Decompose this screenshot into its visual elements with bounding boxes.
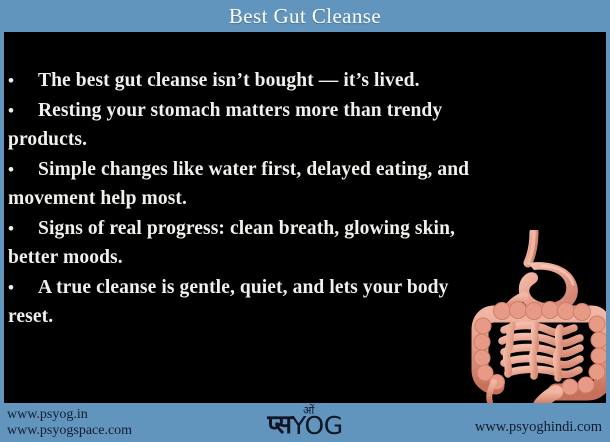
list-item-text: Resting your stomach matters more than t…: [8, 100, 442, 151]
list-item: •Simple changes like water first, delaye…: [8, 155, 470, 214]
bullet-marker-icon: •: [8, 66, 38, 96]
list-item: •The best gut cleanse isn’t bought — it’…: [8, 66, 470, 96]
list-item-text: A true cleanse is gentle, quiet, and let…: [8, 277, 448, 328]
list-item: •Resting your stomach matters more than …: [8, 96, 470, 155]
logo-latin-text: YOG: [291, 413, 342, 438]
footer-links-left: www.psyog.in www.psyogspace.com: [7, 407, 132, 439]
list-item-text: The best gut cleanse isn’t bought — it’s…: [38, 70, 420, 91]
poster-canvas: Best Gut Cleanse: [0, 0, 610, 442]
list-item-text: Signs of real progress: clean breath, gl…: [8, 218, 455, 269]
bullet-marker-icon: •: [8, 96, 38, 126]
brand-logo[interactable]: प्स ओं YOG: [267, 406, 342, 438]
page-title: Best Gut Cleanse: [229, 6, 381, 27]
list-item: •Signs of real progress: clean breath, g…: [8, 214, 470, 273]
bullet-marker-icon: •: [8, 273, 38, 303]
site-link-psyogspace[interactable]: www.psyogspace.com: [7, 423, 132, 439]
list-item-text: Simple changes like water first, delayed…: [8, 159, 469, 210]
site-link-psyoghindi[interactable]: www.psyoghindi.com: [475, 419, 602, 435]
logo-om-icon: ओं: [303, 405, 314, 416]
list-item: •A true cleanse is gentle, quiet, and le…: [8, 273, 470, 332]
site-link-psyog-in[interactable]: www.psyog.in: [7, 407, 132, 423]
bullet-marker-icon: •: [8, 214, 38, 244]
poster-header: Best Gut Cleanse: [0, 0, 610, 32]
bullet-list: •The best gut cleanse isn’t bought — it’…: [0, 38, 470, 332]
frame-edge-left: [0, 0, 4, 442]
bullet-marker-icon: •: [8, 155, 38, 185]
poster-footer: www.psyog.in www.psyogspace.com प्स ओं Y…: [0, 403, 610, 442]
logo-devanagari-text: प्स: [267, 412, 291, 438]
frame-edge-right: [606, 0, 610, 442]
